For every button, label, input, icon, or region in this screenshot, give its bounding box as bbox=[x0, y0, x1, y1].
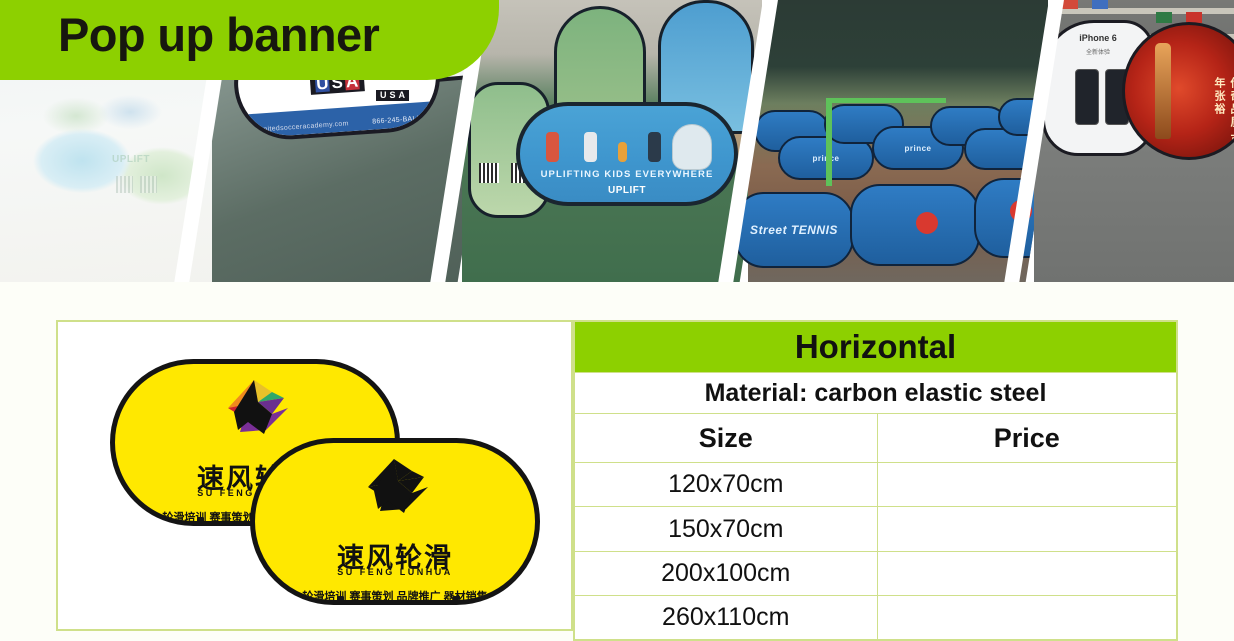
table-row-material: Material: carbon elastic steel bbox=[574, 373, 1177, 414]
table-row: 150x70cm bbox=[574, 507, 1177, 551]
cell-size: 150x70cm bbox=[574, 507, 877, 551]
qr-code-icon bbox=[479, 163, 499, 183]
bank-logo-dot bbox=[916, 212, 938, 234]
cell-size: 200x100cm bbox=[574, 551, 877, 595]
flag-icon bbox=[1062, 0, 1078, 9]
column-header-size: Size bbox=[574, 414, 877, 463]
sufeng-logo-icon bbox=[214, 378, 306, 440]
phone-illustration bbox=[1075, 69, 1099, 125]
uplift-logo: UPLIFT bbox=[520, 185, 734, 196]
sufeng-logo-icon bbox=[354, 457, 446, 519]
kid-character bbox=[546, 132, 559, 162]
cell-price bbox=[877, 596, 1177, 640]
usa-logo-mini: USA bbox=[376, 90, 409, 101]
kid-character bbox=[618, 142, 627, 162]
banner-foot bbox=[197, 517, 204, 524]
qr-code-icon bbox=[116, 176, 133, 193]
product-services: 轮滑培训 赛事策划 品牌推广 器材销售 bbox=[255, 588, 535, 604]
cell-size: 260x110cm bbox=[574, 596, 877, 640]
page-root: UPLIFT SOCCER EDUCATION SPECIALISTS USA … bbox=[0, 0, 1234, 641]
wine-slogan: 传奇品质 百年张裕 bbox=[1211, 77, 1234, 157]
wine-bottle-illustration bbox=[1155, 43, 1171, 139]
page-title-banner: Pop up banner bbox=[0, 0, 499, 80]
spec-table: Horizontal Material: carbon elastic stee… bbox=[573, 320, 1178, 641]
cell-size: 120x70cm bbox=[574, 463, 877, 507]
spec-table-title: Horizontal bbox=[574, 321, 1177, 373]
kids-main-banner: UPLIFTING KIDS EVERYWHERE UPLIFT bbox=[516, 102, 738, 206]
kid-character bbox=[584, 132, 597, 162]
kids-slogan: UPLIFTING KIDS EVERYWHERE bbox=[520, 169, 734, 180]
table-row: 260x110cm bbox=[574, 596, 1177, 640]
street-tennis-banner: Street TENNIS bbox=[734, 192, 854, 268]
product-image-box: 速风轮滑 SU FENG LUNHUA 轮滑培训 赛事策划 品牌推广 器材销售 … bbox=[56, 320, 573, 631]
table-row: 120x70cm bbox=[574, 463, 1177, 507]
column-header-price: Price bbox=[877, 414, 1177, 463]
product-banner-front: 速风轮滑 SU FENG LUNHUA 轮滑培训 赛事策划 品牌推广 器材销售 bbox=[250, 438, 540, 605]
cell-price bbox=[877, 507, 1177, 551]
flag-icon bbox=[1156, 12, 1172, 23]
qr-code-icon bbox=[140, 176, 157, 193]
iphone-title: iPhone 6 bbox=[1045, 33, 1151, 43]
photo1-ghost-label: UPLIFT bbox=[112, 154, 150, 165]
flag-icon bbox=[1092, 0, 1108, 9]
tennis-net-bar bbox=[826, 98, 946, 103]
court-banner-bank bbox=[850, 184, 980, 266]
product-pinyin: SU FENG LUNHUA bbox=[255, 567, 535, 577]
spec-material: Material: carbon elastic steel bbox=[574, 373, 1177, 414]
table-row-title: Horizontal bbox=[574, 321, 1177, 373]
cell-price bbox=[877, 463, 1177, 507]
cell-price bbox=[877, 551, 1177, 595]
tennis-net-post bbox=[826, 98, 832, 186]
table-row: 200x100cm bbox=[574, 551, 1177, 595]
banner-foot bbox=[453, 596, 460, 603]
banner-foot bbox=[337, 596, 344, 603]
table-row-columns: Size Price bbox=[574, 414, 1177, 463]
elephant-mascot-icon bbox=[672, 124, 712, 170]
page-title: Pop up banner bbox=[58, 7, 379, 62]
kid-character bbox=[648, 132, 661, 162]
